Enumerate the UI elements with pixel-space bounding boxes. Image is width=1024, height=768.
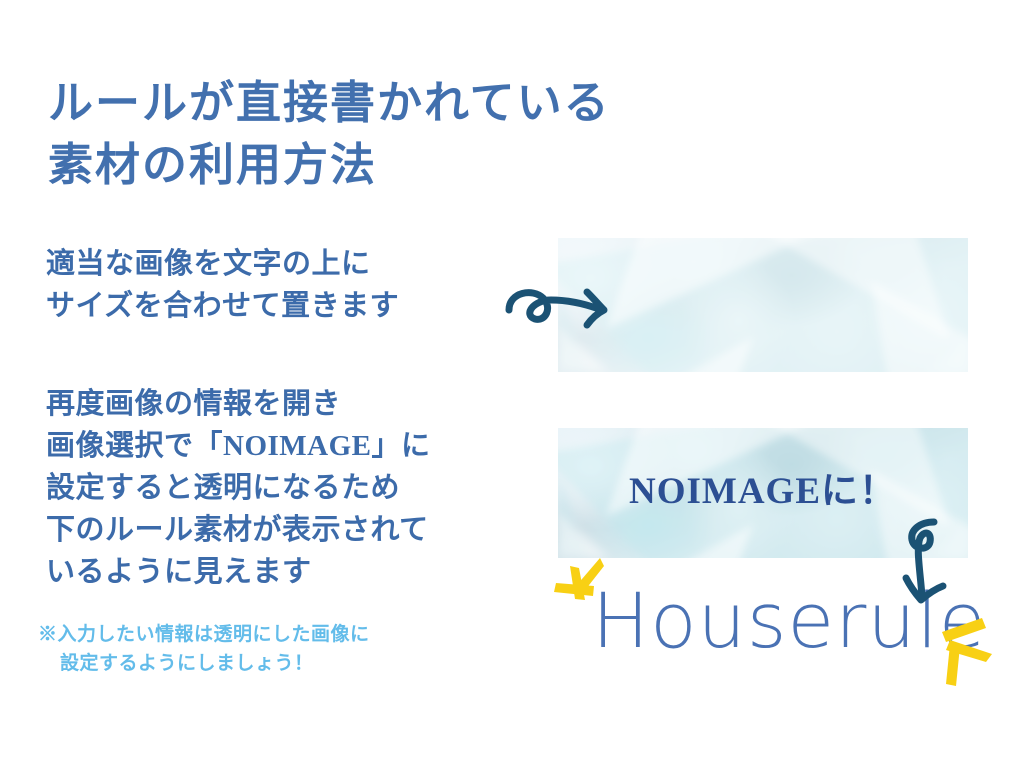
title-line-2: 素材の利用方法 <box>48 134 708 196</box>
page-title: ルールが直接書かれている 素材の利用方法 <box>48 72 708 196</box>
curly-down-arrow-icon <box>898 518 960 614</box>
paragraph-two-line-1: 再度画像の情報を開き <box>46 383 546 425</box>
footnote-line-1: ※入力したい情報は透明にした画像に <box>38 620 498 649</box>
sparkle-icon-right <box>916 612 998 692</box>
noimage-caption-text: NOIMAGEに！ <box>558 470 968 514</box>
paragraph-two-line-5: いるように見えます <box>46 551 546 593</box>
paragraph-two-line-2: 画像選択で「NOIMAGE」に <box>46 425 546 467</box>
footnote-note: ※入力したい情報は透明にした画像に 設定するようにしましょう！ <box>38 620 498 678</box>
curly-right-arrow-icon <box>503 276 625 334</box>
body-paragraph-one: 適当な画像を文字の上に サイズを合わせて置きます <box>46 243 526 327</box>
paragraph-one-line-2: サイズを合わせて置きます <box>46 285 526 327</box>
footnote-line-2: 設定するようにしましょう！ <box>38 649 498 678</box>
slide-canvas: ルールが直接書かれている 素材の利用方法 適当な画像を文字の上に サイズを合わせ… <box>0 0 1024 768</box>
paragraph-one-line-1: 適当な画像を文字の上に <box>46 243 526 285</box>
paragraph-two-line-4: 下のルール素材が表示されて <box>46 509 546 551</box>
body-paragraph-two: 再度画像の情報を開き 画像選択で「NOIMAGE」に 設定すると透明になるため … <box>46 383 546 593</box>
sparkle-icon-left <box>552 556 616 624</box>
title-line-1: ルールが直接書かれている <box>48 72 708 134</box>
paragraph-two-line-3: 設定すると透明になるため <box>46 467 546 509</box>
